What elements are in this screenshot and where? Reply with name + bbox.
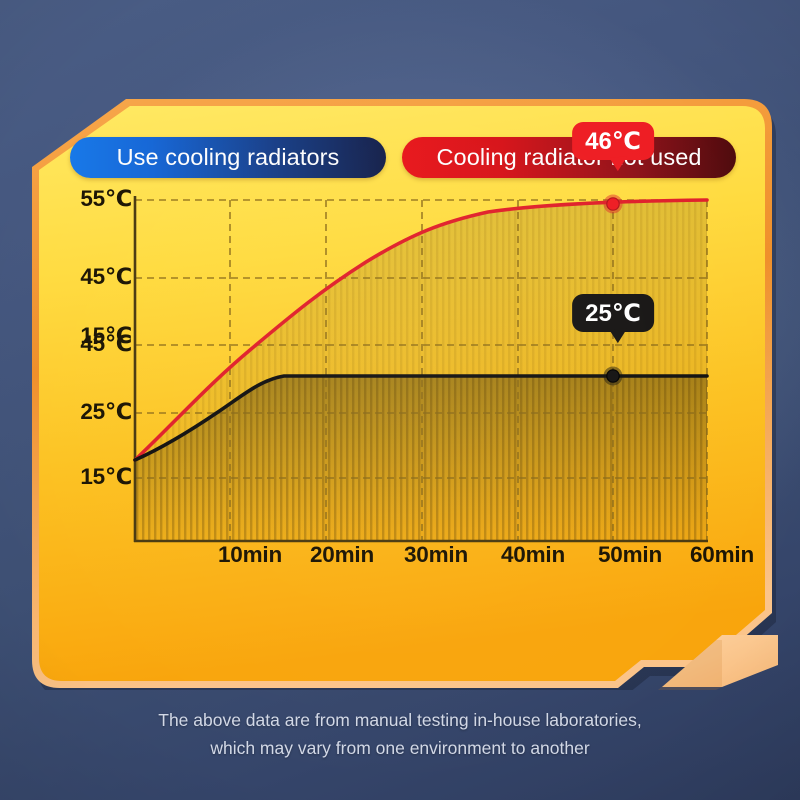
callout-cooled-value: 25℃	[585, 299, 641, 328]
footer-disclaimer: The above data are from manual testing i…	[0, 706, 800, 762]
series-marker-uncooled	[607, 198, 619, 210]
callout-uncooled: 46℃	[572, 122, 654, 160]
callout-tail-red	[609, 156, 628, 172]
info-card: Use cooling radiators Cooling radiator n…	[22, 95, 778, 690]
series-marker-cooled	[607, 370, 619, 382]
x-tick-40min: 40min	[501, 542, 565, 568]
callout-tail-black	[609, 328, 628, 344]
footer-line-1: The above data are from manual testing i…	[0, 706, 800, 734]
legend-pill-uncooled[interactable]: Cooling radiator not used	[402, 137, 736, 178]
page-background: Use cooling radiators Cooling radiator n…	[0, 0, 800, 800]
callout-uncooled-value: 46℃	[585, 127, 641, 156]
callout-cooled: 25℃	[572, 294, 654, 332]
x-tick-30min: 30min	[404, 542, 468, 568]
x-tick-20min: 20min	[310, 542, 374, 568]
x-axis-labels: 10min 20min 30min 40min 50min 60min	[22, 542, 778, 582]
x-tick-10min: 10min	[218, 542, 282, 568]
footer-line-2: which may vary from one environment to a…	[0, 734, 800, 762]
temperature-chart: 15℃ 55℃ 45℃ 45℃ 25℃ 15℃	[22, 190, 778, 620]
x-tick-60min: 60min	[690, 542, 754, 568]
legend-pill-cooled[interactable]: Use cooling radiators	[70, 137, 386, 178]
x-tick-50min: 50min	[598, 542, 662, 568]
